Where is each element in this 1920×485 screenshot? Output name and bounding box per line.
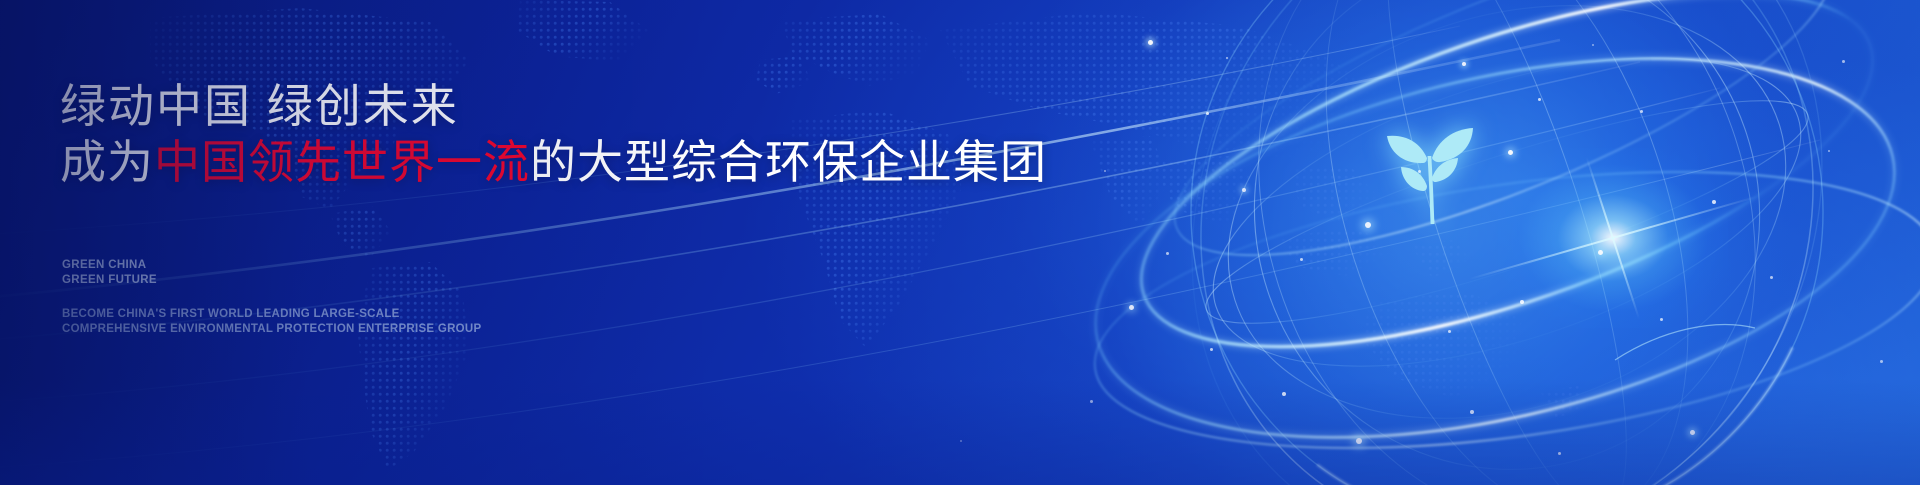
bottom-shade [0,0,1920,485]
description-line-1: BECOME CHINA'S FIRST WORLD LEADING LARGE… [62,307,481,322]
tagline-line-2: GREEN FUTURE [62,273,157,288]
description-english: BECOME CHINA'S FIRST WORLD LEADING LARGE… [62,307,481,337]
headline-suffix: 的大型综合环保企业集团 [530,136,1047,188]
tagline-line-1: GREEN CHINA [62,258,157,273]
headline-prefix: 成为 [60,136,154,188]
headline-block: 绿动中国 绿创未来 成为中国领先世界一流的大型综合环保企业集团 [60,78,1060,190]
headline-line-1: 绿动中国 绿创未来 [60,78,1060,134]
description-line-2: COMPREHENSIVE ENVIRONMENTAL PROTECTION E… [62,322,481,337]
world-map-icon [0,0,1920,485]
tagline-english: GREEN CHINA GREEN FUTURE [62,258,157,288]
light-burst-icon [1498,148,1728,328]
globe-icon [1055,0,1920,485]
light-streaks-icon [0,0,1920,485]
headline-line-2: 成为中国领先世界一流的大型综合环保企业集团 [60,134,1060,190]
globe-glow [1040,0,1920,485]
edge-vignette [0,0,1920,485]
particles [0,0,1920,485]
sprout-icon [1372,112,1484,227]
headline-highlight: 中国领先世界一流 [154,136,530,188]
hero-banner: 绿动中国 绿创未来 成为中国领先世界一流的大型综合环保企业集团 GREEN CH… [0,0,1920,485]
